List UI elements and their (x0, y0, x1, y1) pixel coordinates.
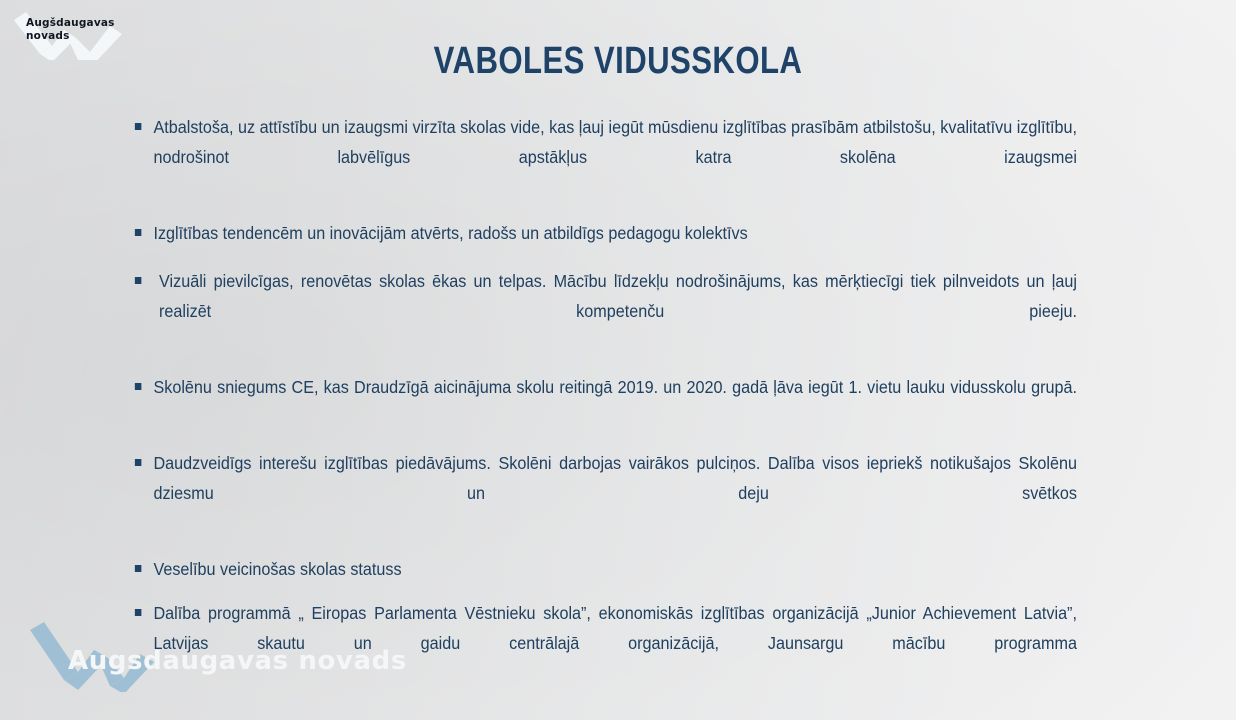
square-bullet-icon (135, 609, 142, 616)
list-item-text: Atbalstoša, uz attīstību un izaugsmi vir… (153, 112, 1076, 202)
square-bullet-icon (135, 229, 142, 236)
square-bullet-icon (135, 277, 142, 284)
page-title: VABOLES VIDUSSKOLA (111, 40, 1125, 83)
list-item: Vizuāli pievilcīgas, renovētas skolas ēk… (133, 266, 1077, 356)
list-item-text: Izglītības tendencēm un inovācijām atvēr… (153, 218, 1076, 248)
square-bullet-icon (135, 565, 142, 572)
list-item-text: Daudzveidīgs interešu izglītības piedāvā… (153, 448, 1076, 538)
square-bullet-icon (135, 383, 142, 390)
list-item-text: Skolēnu sniegums CE, kas Draudzīgā aicin… (153, 372, 1076, 432)
logo-label: Augšdaugavas novads (26, 17, 122, 42)
list-item: Veselību veicinošas skolas statuss (133, 554, 1077, 584)
list-item: Skolēnu sniegums CE, kas Draudzīgā aicin… (133, 372, 1077, 432)
list-item: Atbalstoša, uz attīstību un izaugsmi vir… (133, 112, 1077, 202)
watermark-label: Augsdaugavas novads (68, 646, 407, 676)
square-bullet-icon (135, 459, 142, 466)
presentation-slide: Augšdaugavas novads VABOLES VIDUSSKOLA A… (0, 0, 1236, 720)
list-item-text: Vizuāli pievilcīgas, renovētas skolas ēk… (153, 266, 1076, 356)
list-item-text: Veselību veicinošas skolas statuss (153, 554, 1076, 584)
list-item: Daudzveidīgs interešu izglītības piedāvā… (133, 448, 1077, 538)
list-item: Izglītības tendencēm un inovācijām atvēr… (133, 218, 1077, 248)
square-bullet-icon (135, 123, 142, 130)
bullet-list: Atbalstoša, uz attīstību un izaugsmi vir… (133, 112, 1148, 702)
